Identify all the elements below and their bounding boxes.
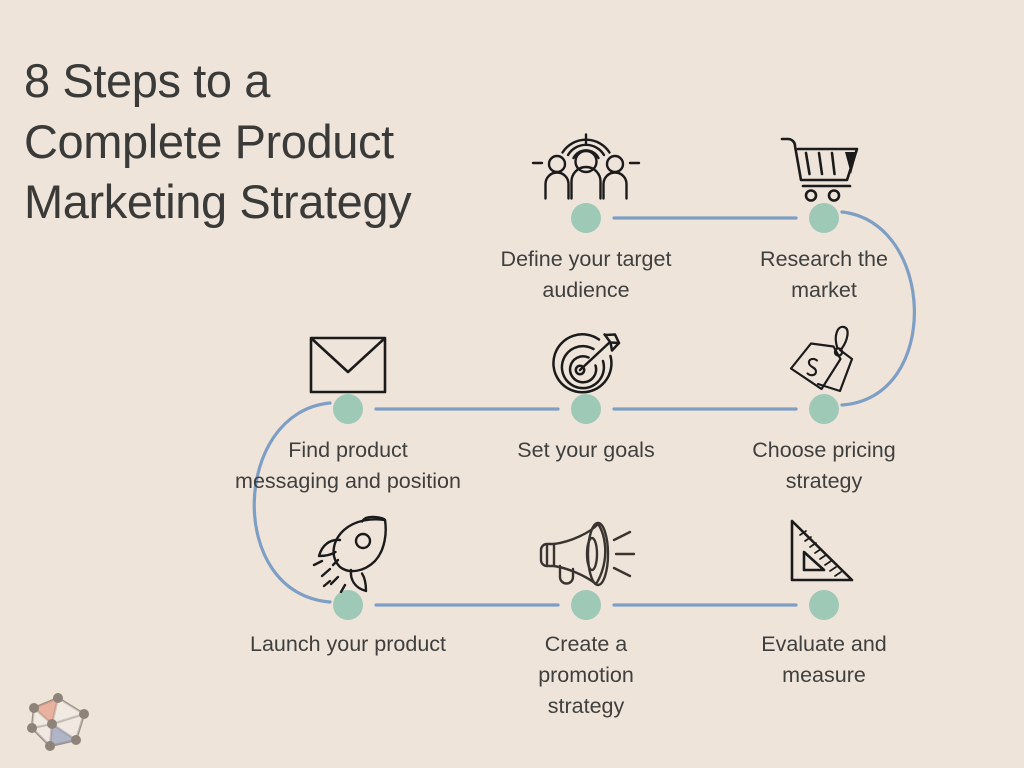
page-title: 8 Steps to a Complete Product Marketing …	[24, 51, 484, 231]
step-dot-2[interactable]	[809, 203, 839, 233]
infographic-canvas: 8 Steps to a Complete Product Marketing …	[0, 0, 1024, 768]
step-3-label: Choose pricing strategy	[704, 435, 944, 497]
target-dart-icon	[466, 330, 706, 400]
rocket-icon	[228, 515, 468, 593]
price-tag-icon	[704, 323, 944, 401]
step-1-label: Define your target audience	[466, 244, 706, 306]
step-6-label: Launch your product	[213, 629, 483, 660]
step-8-label: Evaluate and measure	[704, 629, 944, 691]
set-square-ruler-icon	[704, 518, 944, 584]
step-dot-5[interactable]	[333, 394, 363, 424]
megaphone-icon	[466, 518, 706, 590]
step-2-label: Research the market	[704, 244, 944, 306]
target-audience-icon	[466, 133, 706, 201]
step-7-label: Create a promotion strategy	[466, 629, 706, 723]
step-dot-1[interactable]	[571, 203, 601, 233]
envelope-icon	[228, 336, 468, 394]
step-dot-6[interactable]	[333, 590, 363, 620]
polyhedron-network-logo	[22, 676, 106, 760]
step-4-label: Set your goals	[466, 435, 706, 466]
step-dot-8[interactable]	[809, 590, 839, 620]
step-dot-7[interactable]	[571, 590, 601, 620]
shopping-cart-icon	[704, 130, 944, 202]
step-5-label: Find product messaging and position	[218, 435, 478, 497]
